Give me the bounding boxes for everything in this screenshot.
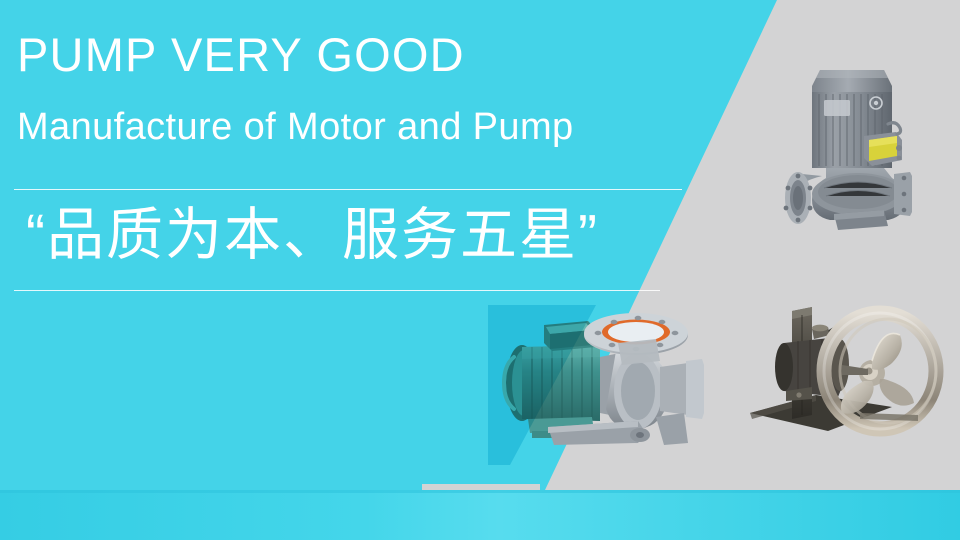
divider-bottom (14, 290, 660, 291)
slogan-text: “品质为本、服务五星” (26, 203, 599, 269)
subtitle: Manufacture of Motor and Pump (17, 108, 574, 146)
hero-banner: PUMP VERY GOOD Manufacture of Motor and … (0, 0, 960, 540)
product-image-inline-pipeline-pump (768, 48, 948, 238)
product-image-centrifugal-pump (488, 305, 718, 465)
product-image-submersible-mixer (742, 295, 947, 455)
divider-top (14, 189, 682, 190)
page-title: PUMP VERY GOOD (17, 31, 465, 78)
footer-band (0, 490, 960, 540)
